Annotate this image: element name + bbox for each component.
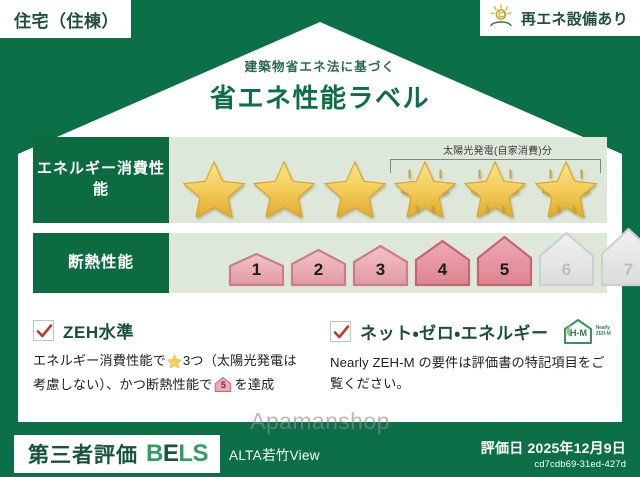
- check-icon: [36, 323, 53, 340]
- energy-performance-row: エネルギー消費性能 太陽光発電(自家消費)分: [33, 137, 607, 223]
- building-type-badge: 住宅（住棟）: [0, 0, 131, 38]
- insulation-grade-house: 4: [413, 239, 472, 287]
- evaluation-date: 評価日 2025年12月9日: [481, 438, 626, 458]
- svg-text:H-M: H-M: [570, 328, 587, 338]
- grade-number: 3: [351, 260, 410, 280]
- solar-sun-icon: [488, 4, 514, 33]
- nze-criteria-header: ネット・ゼロ・エネルギー H-M Nearly ZEH-M: [330, 318, 612, 345]
- star-rating: [179, 159, 601, 217]
- insulation-grade-house-inactive: 6: [537, 231, 596, 287]
- insulation-label-box: 断熱性能: [33, 233, 169, 293]
- renewable-badge-label: 再エネ設備あり: [521, 8, 628, 29]
- nze-criteria-body: Nearly ZEH-M の要件は評価書の特記項目をご覧ください。: [330, 352, 612, 395]
- footer: 第三者評価 BELS ALTA若竹View 評価日 2025年12月9日 cd7…: [0, 430, 640, 477]
- renewable-equipment-badge: 再エネ設備あり: [480, 0, 640, 36]
- star-icon-solar: [464, 159, 526, 217]
- label-subtitle: 建築物省エネ法に基づく: [0, 56, 640, 75]
- grade-number: 7: [599, 260, 640, 280]
- title-block: 建築物省エネ法に基づく 省エネ性能ラベル: [0, 56, 640, 115]
- evaluation-id: cd7cdb69-31ed-427d: [481, 459, 626, 470]
- third-party-eval-label: 第三者評価: [28, 439, 138, 469]
- check-icon: [333, 324, 350, 341]
- insulation-track: 1 2 3 4 5: [169, 233, 607, 293]
- zeh-m-sub-line2: ZEH-M: [596, 332, 611, 338]
- bels-ls: LS: [178, 440, 208, 467]
- zeh-criteria-panel: ZEH水準 エネルギー消費性能で3つ（太陽光発電は考慮しない）、かつ断熱性能で5…: [33, 318, 305, 396]
- zeh-m-logo: H-M Nearly ZEH-M: [562, 318, 611, 345]
- grade-number: 1: [227, 260, 286, 280]
- grade-number: 2: [289, 260, 348, 280]
- inline-house-icon: 5: [214, 376, 232, 393]
- bels-b: B: [146, 440, 163, 467]
- star-icon: [183, 159, 245, 217]
- energy-performance-label-text: エネルギー消費性能: [33, 159, 169, 200]
- nze-criteria-title: ネット・ゼロ・エネルギー: [360, 319, 549, 344]
- insulation-performance-row: 断熱性能 1 2 3: [33, 233, 607, 293]
- bels-wordmark: BELS: [146, 440, 208, 468]
- zeh-criteria-header: ZEH水準: [33, 318, 305, 343]
- star-icon-solar: [394, 159, 456, 217]
- building-name: ALTA若竹View: [229, 444, 320, 464]
- bels-e: E: [163, 440, 179, 467]
- inline-house-grade: 5: [214, 378, 232, 393]
- star-icon: [324, 159, 386, 217]
- nze-checkbox[interactable]: [330, 321, 351, 342]
- energy-performance-label-box: エネルギー消費性能: [33, 137, 169, 223]
- bels-badge: 第三者評価 BELS: [14, 435, 220, 473]
- star-icon: [253, 159, 315, 217]
- insulation-grade-house: 5: [475, 235, 534, 287]
- energy-performance-track: 太陽光発電(自家消費)分: [169, 137, 607, 223]
- grade-number: 4: [413, 260, 472, 280]
- grade-number: 5: [475, 260, 534, 280]
- net-zero-energy-panel: ネット・ゼロ・エネルギー H-M Nearly ZEH-M Nearly ZEH…: [330, 318, 612, 395]
- zeh-checkbox[interactable]: [33, 320, 54, 341]
- insulation-grade-house: 1: [227, 252, 286, 287]
- building-type-label: 住宅（住棟）: [14, 7, 119, 32]
- star-icon-solar: [535, 159, 597, 217]
- energy-performance-label: 住宅（住棟） 再エネ設備あり 建築物省エネ法に基づく 省エネ性能ラベル: [0, 0, 640, 477]
- insulation-grade-house: 3: [351, 244, 410, 287]
- insulation-grade-house-inactive: 7: [599, 227, 640, 287]
- footer-meta: 評価日 2025年12月9日 cd7cdb69-31ed-427d: [481, 438, 626, 470]
- zeh-criteria-title: ZEH水準: [63, 318, 134, 343]
- solar-generation-caption: 太陽光発電(自家消費)分: [388, 142, 607, 157]
- insulation-grade-house: 2: [289, 248, 348, 287]
- page-title: 省エネ性能ラベル: [0, 78, 640, 115]
- inline-star-icon: [167, 353, 182, 374]
- zeh-criteria-body: エネルギー消費性能で3つ（太陽光発電は考慮しない）、かつ断熱性能で5を達成: [33, 350, 305, 396]
- insulation-grade-scale: 1 2 3 4 5: [227, 227, 640, 287]
- grade-number: 6: [537, 260, 596, 280]
- zeh-body-part3: を達成: [234, 377, 274, 392]
- insulation-label-text: 断熱性能: [68, 252, 134, 273]
- zeh-body-part1: エネルギー消費性能で: [33, 353, 166, 368]
